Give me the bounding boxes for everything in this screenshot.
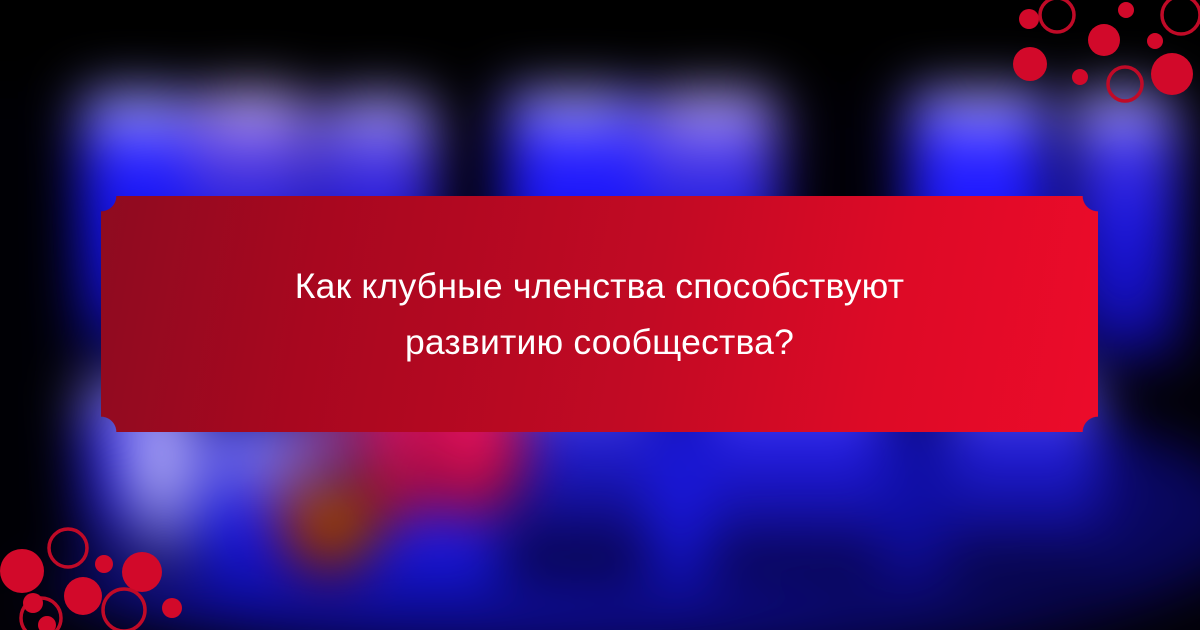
- social-card: Как клубные членства способствуют развит…: [0, 0, 1200, 630]
- headline-text: Как клубные членства способствуют развит…: [220, 258, 980, 370]
- decorative-circles-top-right: [1013, 0, 1200, 101]
- headline-banner: Как клубные членства способствуют развит…: [101, 196, 1098, 432]
- decorative-circles-bottom-left: [0, 529, 182, 630]
